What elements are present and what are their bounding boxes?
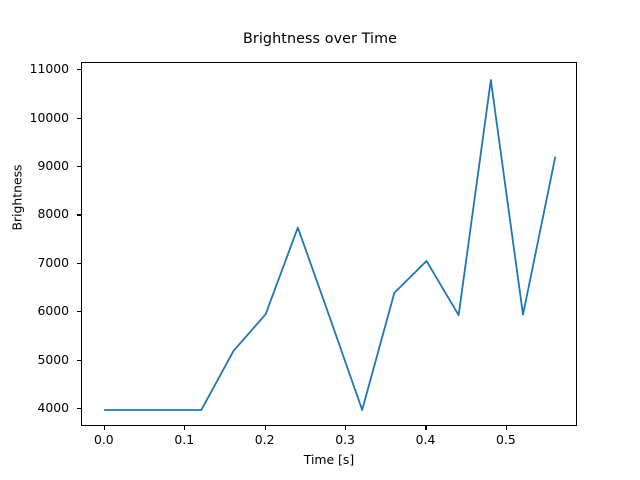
x-tick-label: 0.5 [476, 432, 536, 447]
y-tick-label: 7000 [11, 255, 69, 270]
x-tick-label: 0.2 [235, 432, 295, 447]
y-axis-label: Brightness [10, 138, 25, 258]
plot-axes-frame [81, 62, 577, 426]
x-axis-label: Time [s] [81, 452, 577, 467]
y-tick-label: 10000 [11, 110, 69, 125]
y-tick-label: 5000 [11, 352, 69, 367]
chart-title: Brightness over Time [0, 31, 640, 47]
y-tick-label: 8000 [11, 206, 69, 221]
x-tick-mark [184, 426, 185, 430]
x-tick-label: 0.1 [154, 432, 214, 447]
brightness-line-series [105, 80, 555, 410]
x-tick-label: 0.4 [395, 432, 455, 447]
y-tick-label: 6000 [11, 303, 69, 318]
x-tick-mark [425, 426, 426, 430]
y-tick-label: 4000 [11, 400, 69, 415]
data-line-plot [82, 63, 577, 426]
x-tick-mark [506, 426, 507, 430]
y-tick-label: 11000 [11, 61, 69, 76]
matplotlib-figure: Brightness over Time Brightness Time [s]… [0, 0, 640, 480]
x-tick-mark [104, 426, 105, 430]
x-tick-mark [265, 426, 266, 430]
x-tick-label: 0.3 [315, 432, 375, 447]
x-tick-mark [345, 426, 346, 430]
x-tick-label: 0.0 [74, 432, 134, 447]
y-tick-label: 9000 [11, 158, 69, 173]
